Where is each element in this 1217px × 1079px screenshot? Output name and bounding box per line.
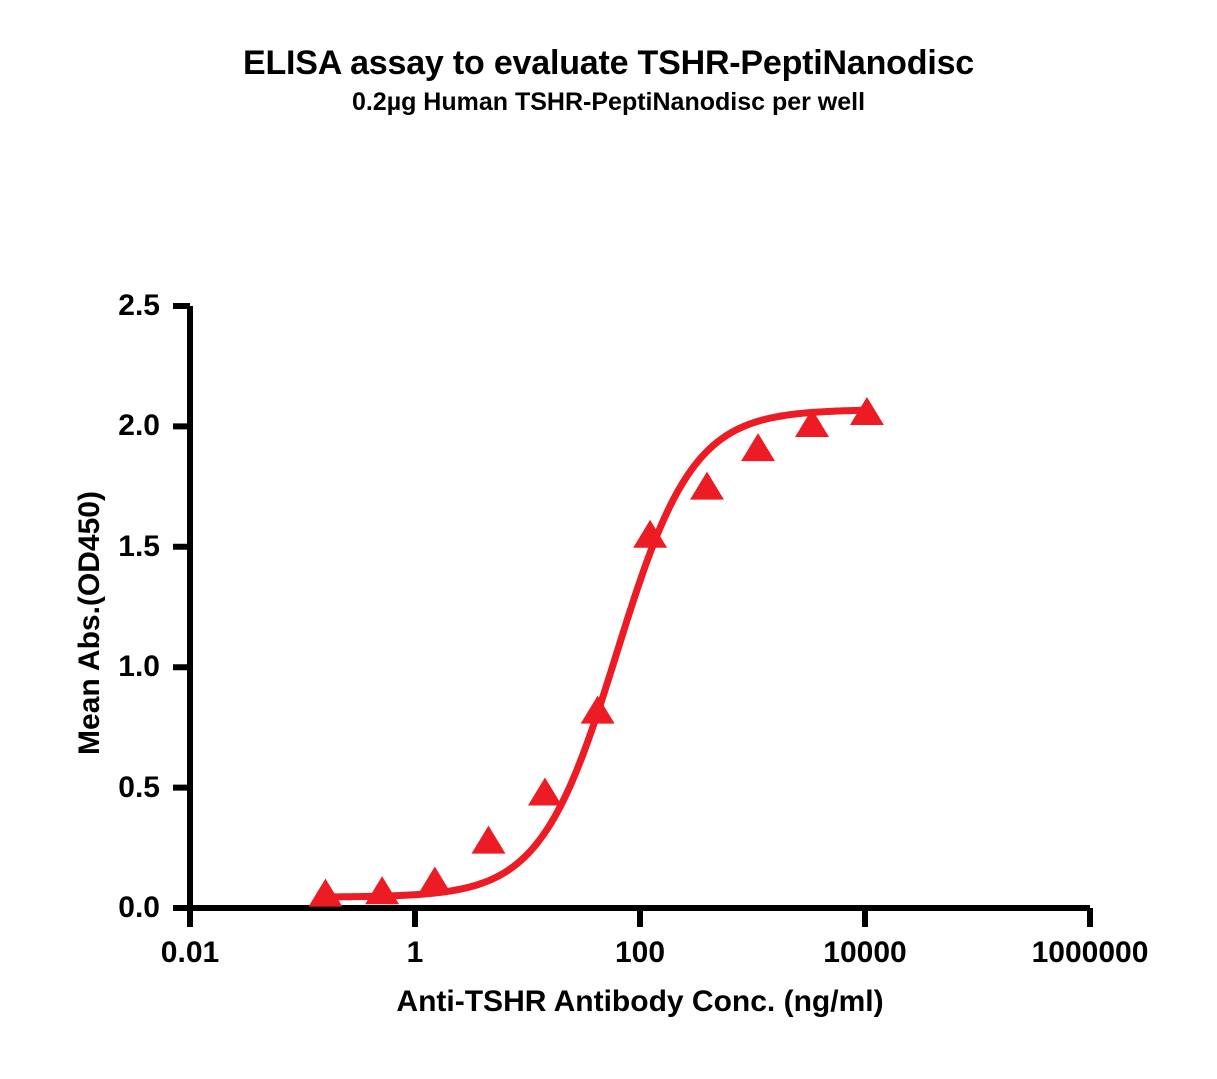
x-axis-title: Anti-TSHR Antibody Conc. (ng/ml) bbox=[190, 985, 1090, 1019]
data-point-marker bbox=[690, 472, 724, 500]
y-tick-label: 0.0 bbox=[55, 891, 160, 925]
x-tick-label: 10000 bbox=[823, 936, 906, 970]
data-point-marker bbox=[418, 867, 452, 895]
y-tick-label: 2.5 bbox=[55, 289, 160, 323]
y-axis-title: Mean Abs.(OD450) bbox=[73, 413, 107, 833]
fit-curve bbox=[323, 410, 869, 897]
data-point-markers bbox=[308, 397, 883, 907]
x-tick-label: 100 bbox=[615, 936, 665, 970]
y-tick-label: 2.0 bbox=[55, 409, 160, 443]
data-point-marker bbox=[581, 696, 615, 724]
x-tick-label: 0.01 bbox=[161, 936, 219, 970]
chart-figure: ELISA assay to evaluate TSHR-PeptiNanodi… bbox=[0, 0, 1217, 1079]
data-point-marker bbox=[365, 876, 399, 904]
y-tick-label: 1.5 bbox=[55, 530, 160, 564]
data-point-marker bbox=[741, 433, 775, 461]
y-tick-label: 0.5 bbox=[55, 771, 160, 805]
x-tick-label: 1000000 bbox=[1032, 936, 1149, 970]
data-point-marker bbox=[471, 826, 505, 854]
x-tick-label: 1 bbox=[407, 936, 424, 970]
data-point-marker bbox=[528, 777, 562, 805]
y-tick-label: 1.0 bbox=[55, 650, 160, 684]
data-point-marker bbox=[308, 879, 342, 907]
plot-canvas bbox=[0, 0, 1217, 1079]
